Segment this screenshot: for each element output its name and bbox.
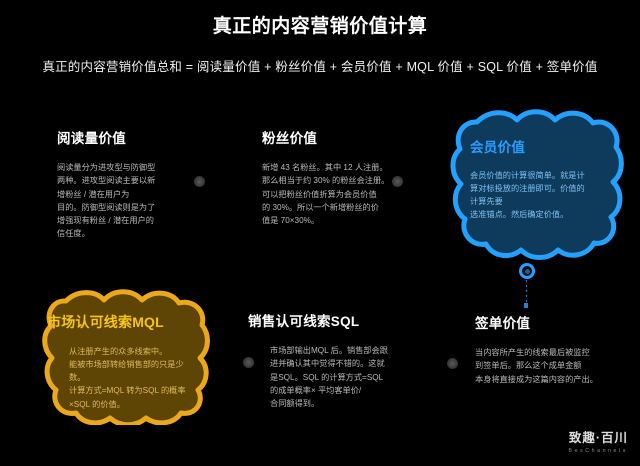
card-fans-value[interactable]: 粉丝价值 新增 43 名粉丝。其中 12 人注册。 那么相当于约 30% 的粉丝… <box>262 127 422 227</box>
card-body: 当内容所产生的线索最后被监控 到签单后。那么这个成单金额 本身将直接成为这篇内容… <box>475 346 630 386</box>
formula-subtitle: 真正的内容营销价值总和 = 阅读量价值 + 粉丝价值 + 会员价值 + MQL … <box>0 56 640 75</box>
card-title: 市场认可线索MQL <box>47 312 205 332</box>
brand-logo: 致趣·百川 BesChannels <box>569 432 628 454</box>
brand-logo-name: 致趣·百川 <box>569 432 628 446</box>
card-body: 会员价值的计算很简单。就是计 算对标投放的注册即可。价值的 计算先要 选准锚点。… <box>470 169 610 222</box>
card-deal-value[interactable]: 签单价值 当内容所产生的线索最后被监控 到签单后。那么这个成单金额 本身将直接成… <box>475 312 630 386</box>
card-body: 从注册产生的众多线索中。 能被市场部转给销售部的只是少 数。 计算方式=MQL … <box>47 345 205 411</box>
map-pin-center-icon <box>525 269 530 274</box>
card-body: 阅读量分为进攻型与防御型 两种。进攻型阅读主要以新 增粉丝 / 潜在用户为 目的… <box>57 161 197 241</box>
card-title: 销售认可线索SQL <box>248 310 413 330</box>
card-mql-value-highlight[interactable]: 市场认可线索MQL 从注册产生的众多线索中。 能被市场部转给销售部的只是少 数。… <box>36 288 212 425</box>
card-title: 签单价值 <box>475 312 630 332</box>
card-body: 新增 43 名粉丝。其中 12 人注册。 那么相当于约 30% 的粉丝会注册。 … <box>262 161 422 227</box>
card-member-value-highlight[interactable]: 会员价值 会员价值的计算很简单。就是计 算对标投放的注册即可。价值的 计算先要 … <box>445 108 625 270</box>
card-title: 阅读量价值 <box>57 127 197 147</box>
card-reading-value[interactable]: 阅读量价值 阅读量分为进攻型与防御型 两种。进攻型阅读主要以新 增粉丝 / 潜在… <box>57 127 197 241</box>
card-sql-value[interactable]: 销售认可线索SQL 市场部输出MQL 后。销售部会跟 进并确认其中觉得不错的。这… <box>248 310 413 410</box>
bullet-dot-icon <box>447 358 458 369</box>
slide-canvas: 真正的内容营销价值计算 真正的内容营销价值总和 = 阅读量价值 + 粉丝价值 +… <box>0 0 640 466</box>
card-title: 粉丝价值 <box>262 127 422 147</box>
brand-logo-latin: BesChannels <box>569 448 628 454</box>
pin-line-endpoint <box>524 303 528 308</box>
card-body: 市场部输出MQL 后。销售部会跟 进并确认其中觉得不错的。这就 是SQL。SQL… <box>248 344 413 410</box>
card-title: 会员价值 <box>470 136 610 156</box>
page-title: 真正的内容营销价值计算 <box>0 11 640 38</box>
